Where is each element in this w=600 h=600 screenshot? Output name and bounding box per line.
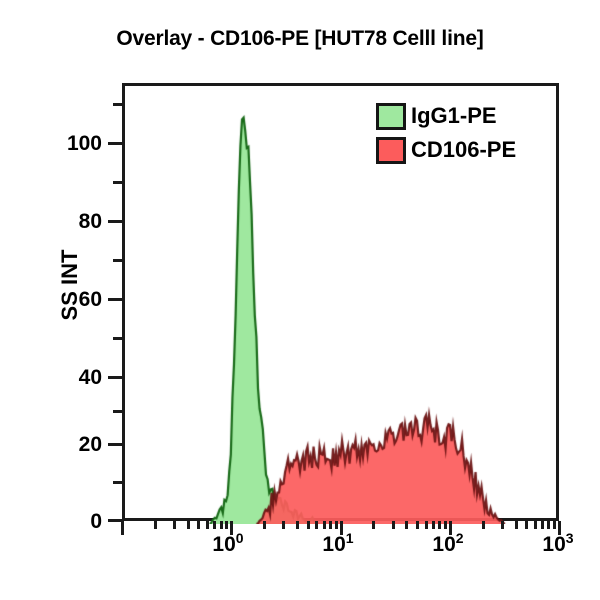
legend-label-cd106-pe: CD106-PE <box>411 139 516 161</box>
x-tick-mark-minor-0.8 <box>220 521 223 529</box>
x-tick-mark-minor-70 <box>432 521 435 529</box>
x-tick-mark-minor-0.5 <box>197 521 200 529</box>
legend-swatch-green <box>376 103 406 130</box>
x-tick-exponent: 2 <box>456 530 464 546</box>
y-tick-label-60: 60 <box>44 288 102 312</box>
x-tick-mark-major-1000 <box>558 521 561 535</box>
x-tick-mantissa: 10 <box>542 533 565 556</box>
x-tick-mark-major-100 <box>449 521 452 535</box>
x-tick-mark-minor-500 <box>525 521 528 529</box>
x-tick-mark-minor-400 <box>515 521 518 529</box>
x-tick-mark-minor-3 <box>282 521 285 529</box>
x-tick-mark-minor-7 <box>323 521 326 529</box>
y-tick-mark-90 <box>113 181 122 184</box>
x-tick-mark-minor-0.9 <box>225 521 228 529</box>
x-tick-mark-major-0.1 <box>121 521 124 535</box>
x-tick-mark-major-1 <box>230 521 233 535</box>
x-tick-mark-minor-600 <box>534 521 537 529</box>
y-tick-mark-80 <box>108 220 122 223</box>
x-tick-mark-minor-900 <box>553 521 556 529</box>
y-tick-label-0: 0 <box>44 510 102 534</box>
x-tick-exponent: 1 <box>346 530 354 546</box>
x-tick-mantissa: 10 <box>212 533 235 556</box>
y-tick-mark-10 <box>113 481 122 484</box>
y-tick-label-80: 80 <box>44 210 102 234</box>
y-tick-mark-0 <box>108 519 122 522</box>
x-tick-mark-minor-200 <box>482 521 485 529</box>
x-tick-mark-minor-2 <box>263 521 266 529</box>
x-tick-mark-minor-40 <box>405 521 408 529</box>
y-tick-mark-50 <box>113 337 122 340</box>
x-tick-mark-major-10 <box>340 521 343 535</box>
x-tick-mark-minor-60 <box>425 521 428 529</box>
legend-item-igg1-pe[interactable]: IgG1-PE <box>376 99 516 133</box>
legend-label-igg1-pe: IgG1-PE <box>411 105 497 127</box>
x-tick-mark-minor-8 <box>329 521 332 529</box>
legend-swatch-red <box>376 137 406 164</box>
y-tick-label-40: 40 <box>44 366 102 390</box>
x-tick-mark-minor-20 <box>372 521 375 529</box>
x-tick-mark-minor-0.4 <box>187 521 190 529</box>
x-tick-mark-minor-50 <box>416 521 419 529</box>
x-tick-mark-minor-5 <box>307 521 310 529</box>
x-tick-mark-minor-800 <box>547 521 550 529</box>
x-tick-mark-minor-80 <box>438 521 441 529</box>
x-tick-exponent: 0 <box>236 530 244 546</box>
x-tick-mantissa: 10 <box>432 533 455 556</box>
y-tick-mark-30 <box>113 410 122 413</box>
x-tick-label-1e1: 101 <box>298 530 378 557</box>
page-title: Overlay - CD106-PE [HUT78 Celll line] <box>0 27 600 51</box>
x-tick-mark-minor-9 <box>335 521 338 529</box>
y-tick-mark-100 <box>108 142 122 145</box>
y-tick-mark-20 <box>108 443 122 446</box>
y-tick-label-20: 20 <box>44 433 102 457</box>
legend: IgG1-PE CD106-PE <box>376 99 516 167</box>
x-tick-mark-minor-30 <box>392 521 395 529</box>
x-tick-mark-minor-0.6000000000000001 <box>206 521 209 529</box>
x-tick-mark-minor-4 <box>296 521 299 529</box>
x-tick-mantissa: 10 <box>322 533 345 556</box>
y-tick-mark-40 <box>108 376 122 379</box>
x-tick-mark-minor-700 <box>541 521 544 529</box>
x-tick-mark-minor-0.2 <box>154 521 157 529</box>
y-tick-mark-70 <box>113 259 122 262</box>
x-tick-mark-minor-90 <box>444 521 447 529</box>
x-tick-mark-minor-0.30000000000000004 <box>173 521 176 529</box>
flow-cytometry-histogram-page: Overlay - CD106-PE [HUT78 Celll line] SS… <box>0 0 600 600</box>
x-tick-mark-minor-6 <box>315 521 318 529</box>
x-tick-mark-minor-300 <box>501 521 504 529</box>
x-tick-exponent: 3 <box>566 530 574 546</box>
y-tick-label-100: 100 <box>44 132 102 156</box>
x-tick-label-1e0: 100 <box>188 530 268 557</box>
y-tick-mark-60 <box>108 298 122 301</box>
y-tick-mark-110 <box>113 103 122 106</box>
legend-item-cd106-pe[interactable]: CD106-PE <box>376 133 516 167</box>
x-tick-mark-minor-0.7000000000000001 <box>213 521 216 529</box>
